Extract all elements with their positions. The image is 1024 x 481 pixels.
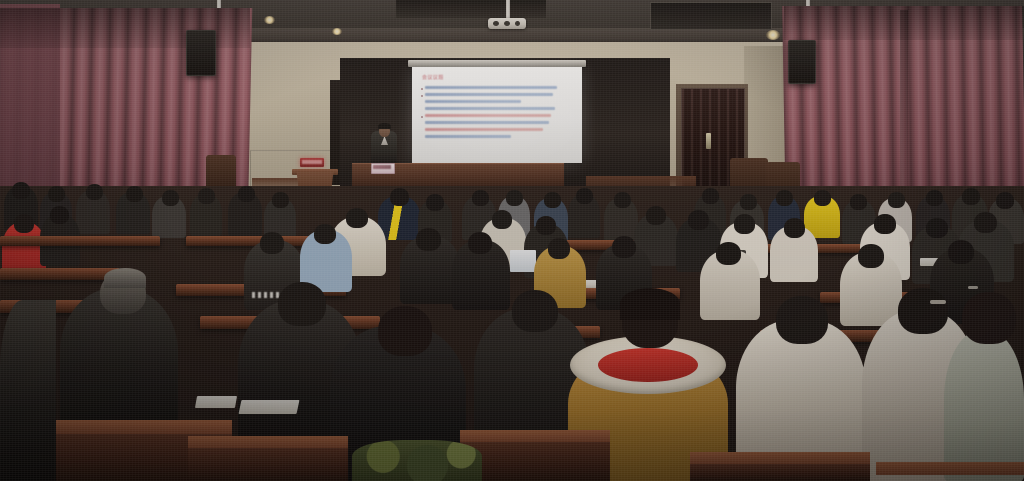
slide-text-line: [425, 135, 511, 138]
bench-desk: [0, 268, 120, 280]
slide-title: 会议议题: [422, 74, 576, 81]
head: [962, 188, 980, 205]
head: [278, 282, 326, 326]
head: [974, 212, 997, 233]
bench-desk: [186, 236, 316, 246]
ceiling-air-vent-left: [396, 0, 546, 18]
head: [378, 306, 432, 356]
presenter-hair: [378, 123, 391, 129]
bench-desk-front: [188, 448, 348, 481]
head: [50, 206, 69, 224]
eyeglasses-icon: [930, 300, 946, 304]
curtain-fold-shadow: [900, 10, 908, 210]
head: [948, 240, 974, 264]
foreground-person-shoulder: [0, 300, 56, 481]
slide-content: 会议议题: [418, 72, 576, 158]
head: [716, 242, 741, 265]
head: [260, 232, 284, 254]
hair: [620, 288, 680, 320]
slide-text-line: [425, 121, 549, 124]
paper-sheet: [239, 400, 300, 414]
head: [612, 236, 636, 258]
slide-text-line: [425, 93, 553, 96]
wall-speaker-left: [186, 30, 216, 76]
head: [688, 210, 709, 230]
head: [962, 292, 1016, 344]
head: [14, 214, 34, 233]
head: [314, 224, 336, 244]
head: [888, 192, 905, 208]
bench-desk-front: [460, 442, 610, 481]
downlight-icon: [766, 30, 780, 40]
head: [850, 194, 867, 210]
red-wall-sign-text: [302, 160, 322, 164]
head: [346, 208, 368, 228]
bench-desk-top: [876, 462, 1024, 475]
paper-sheet: [195, 396, 237, 408]
projector-mount-pole: [506, 0, 510, 20]
ceiling-projector-center: [488, 18, 526, 29]
desk-nameplate-text: [373, 165, 391, 169]
head: [512, 290, 558, 332]
head: [926, 218, 948, 238]
head: [784, 218, 805, 238]
tablet-screen[interactable]: [510, 250, 536, 272]
screen-roller-bar: [408, 60, 586, 67]
head: [776, 296, 828, 344]
head: [426, 194, 444, 211]
door-handle-icon[interactable]: [706, 133, 711, 149]
slide-text-line: [425, 114, 551, 117]
lecture-hall-photo: 会议议题: [0, 0, 1024, 481]
head: [926, 190, 943, 206]
head: [548, 238, 570, 259]
slide-text-line: [425, 107, 555, 110]
person-sage-coat: [944, 330, 1024, 481]
wall-speaker-right: [788, 40, 816, 84]
slide-text-line: [425, 100, 521, 103]
head: [996, 192, 1014, 209]
grey-hair: [104, 268, 146, 288]
head: [468, 232, 492, 254]
red-scarf: [598, 348, 698, 382]
slide-text-line: [425, 86, 557, 89]
head: [536, 216, 556, 235]
bench-desk: [0, 236, 160, 246]
eyeglasses-icon: [968, 286, 978, 289]
head: [646, 206, 666, 225]
ceiling-air-vent: [650, 2, 772, 30]
downlight-icon: [332, 28, 342, 35]
head: [874, 214, 896, 234]
slide-text-line: [425, 128, 543, 131]
head: [416, 228, 441, 251]
head: [390, 188, 409, 206]
head: [898, 288, 948, 334]
head: [814, 190, 831, 206]
person-camouflage-hood: [352, 440, 482, 481]
downlight-icon: [264, 16, 275, 24]
head: [734, 214, 755, 234]
head: [492, 210, 512, 229]
head: [858, 244, 884, 268]
bench-desk-front: [690, 464, 870, 481]
